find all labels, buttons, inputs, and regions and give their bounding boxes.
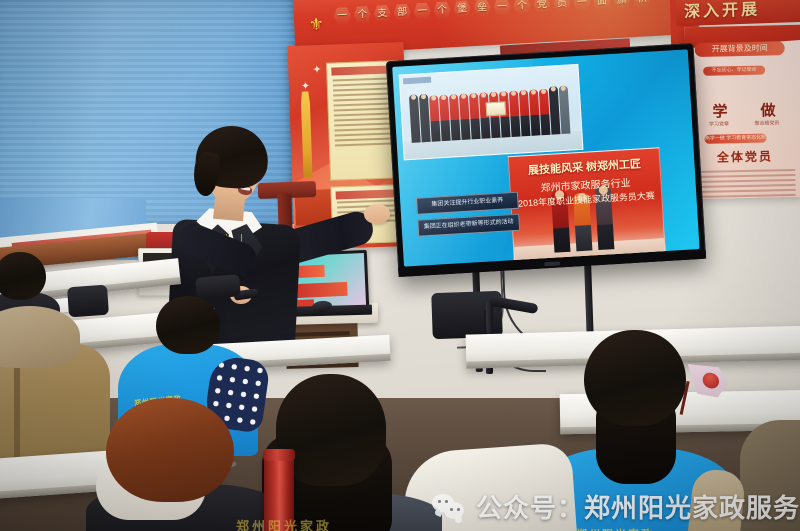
channel-watermark: 公众号：郑州阳光家政服务公司 [432,488,800,525]
audience-head [584,330,686,426]
slogan-char: 党 [533,0,551,14]
dove-icon: ✦ [312,63,322,76]
display-screen: 展技能风采 树郑州工匠 郑州市家政服务行业 2018年度职业技能家政服务员大赛 … [392,49,699,266]
poster-right-big-char: 做 [760,99,775,120]
audience-member-red-hair [96,398,286,531]
poster-right-headline: 深入开展 [684,0,761,22]
poster-right-section-label: 开展背景及时间 [695,41,785,57]
slide-bullet-2: 集团正在组织老带新等形式的活动 [417,214,520,237]
photo-scene: ⚜ 一 个 支 部 一 个 堡 垒 一 个 党 员 一 面 旗 帜 ✦ ✦ [0,0,800,531]
slogan-char: 面 [593,0,611,10]
banner-slogan: 一 个 支 部 一 个 堡 垒 一 个 党 员 一 面 旗 帜 [333,0,650,25]
slogan-char: 一 [493,0,511,16]
slogan-char: 一 [413,2,431,20]
slogan-char: 个 [513,0,531,15]
figure [559,86,571,134]
wechat-dot [450,508,453,511]
wechat-dot [457,508,460,511]
audience-head [156,296,220,354]
thermos-cap [263,449,295,461]
slogan-char: 个 [353,6,371,24]
wechat-bubble-small [444,502,464,519]
slogan-char: 一 [333,7,351,25]
poster-right-headline-banner: 深入开展 [675,0,800,26]
wechat-dot [438,500,441,503]
slide-photo-logo [403,77,431,85]
slogan-char: 垒 [473,0,491,17]
vest-brand-text-bottom: 郑州阳光家政 [236,516,332,531]
party-emblem-icon: ⚜ [306,14,327,35]
poster-right-sub-char: 学习党章 [709,120,729,127]
poster-right-big-char: 学 [712,100,727,121]
poster-right-all-members: 全体党员 [687,147,800,166]
award-plaque-icon [485,101,506,116]
slogan-char: 个 [433,1,451,19]
slogan-char: 一 [573,0,591,11]
poster-right-sub-char: 做合格党员 [754,119,779,127]
poster-right-sub-chars: 学习党章 做合格党员 [696,119,792,128]
poster-right-body [695,169,796,199]
presentation-display[interactable]: 展技能风采 树郑州工匠 郑州市家政服务行业 2018年度职业技能家政服务员大赛 … [386,43,706,277]
poster-right-pill-1-label: 不忘初心、牢记使命 [703,66,765,76]
slide-bullet-1: 集团关注提升行业职业素养 [416,192,519,215]
audience-head [0,252,46,300]
poster-left-card-title [331,65,393,75]
slogan-char: 支 [373,5,391,23]
poster-right-section: 开展背景及时间 [695,41,785,57]
wechat-dot [445,500,448,503]
slogan-char: 旗 [613,0,631,9]
slogan-char: 部 [393,4,411,22]
poster-right-pill-2: 两学一做 学习教育常态化制度化 [704,134,766,144]
slogan-char: 堡 [453,0,471,18]
audience-head [106,398,234,502]
slogan-char: 帜 [633,0,651,8]
parka-fur-hood [0,306,80,368]
dove-icon: ✦ [301,79,311,92]
slide-photo-stage: 展技能风采 树郑州工匠 郑州市家政服务行业 2018年度职业技能家政服务员大赛 [508,147,666,262]
watermark-label: 公众号：郑州阳光家政服务公司 [476,488,800,525]
poster-right-pill-1: 不忘初心、牢记使命 [703,66,765,76]
wechat-icon [432,492,466,522]
vest-brand-text: 郑州阳光家政 [576,526,654,531]
slogan-char: 员 [553,0,571,13]
slide-photo-group [399,64,584,161]
party-poster-right: 开展背景及时间 不忘初心、牢记使命 学 做 学习党章 做合格党员 两学一做 学习… [684,25,800,199]
